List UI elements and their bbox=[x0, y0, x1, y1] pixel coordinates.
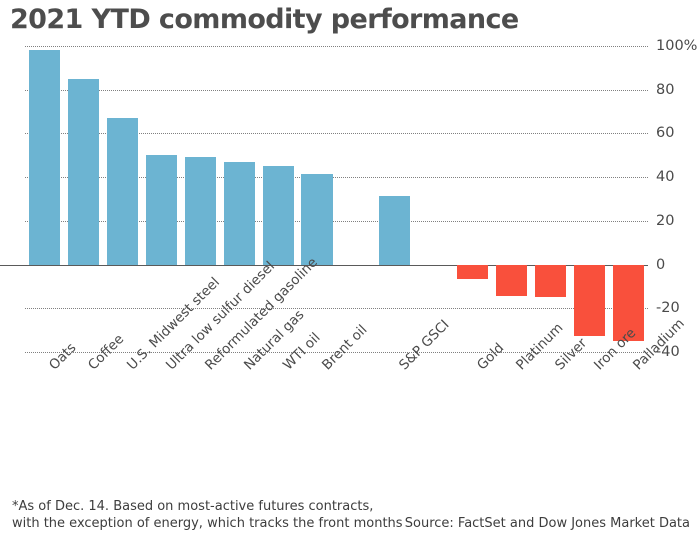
y-axis-tick-label: -20 bbox=[656, 300, 680, 316]
y-axis-tick-label: 0 bbox=[656, 257, 665, 273]
bar bbox=[574, 265, 605, 336]
bar bbox=[496, 265, 527, 297]
x-axis-labels: OatsCoffeeU.S. Midwest steelUltra low su… bbox=[0, 0, 700, 200]
chart-source: Source: FactSet and Dow Jones Market Dat… bbox=[405, 515, 690, 532]
bar bbox=[457, 265, 488, 279]
bar bbox=[535, 265, 566, 298]
commodity-performance-chart: 2021 YTD commodity performance 100%80604… bbox=[0, 0, 700, 540]
y-axis-tick-label: 20 bbox=[656, 213, 674, 229]
chart-footnote: *As of Dec. 14. Based on most-active fut… bbox=[12, 498, 403, 532]
bar bbox=[379, 196, 410, 265]
